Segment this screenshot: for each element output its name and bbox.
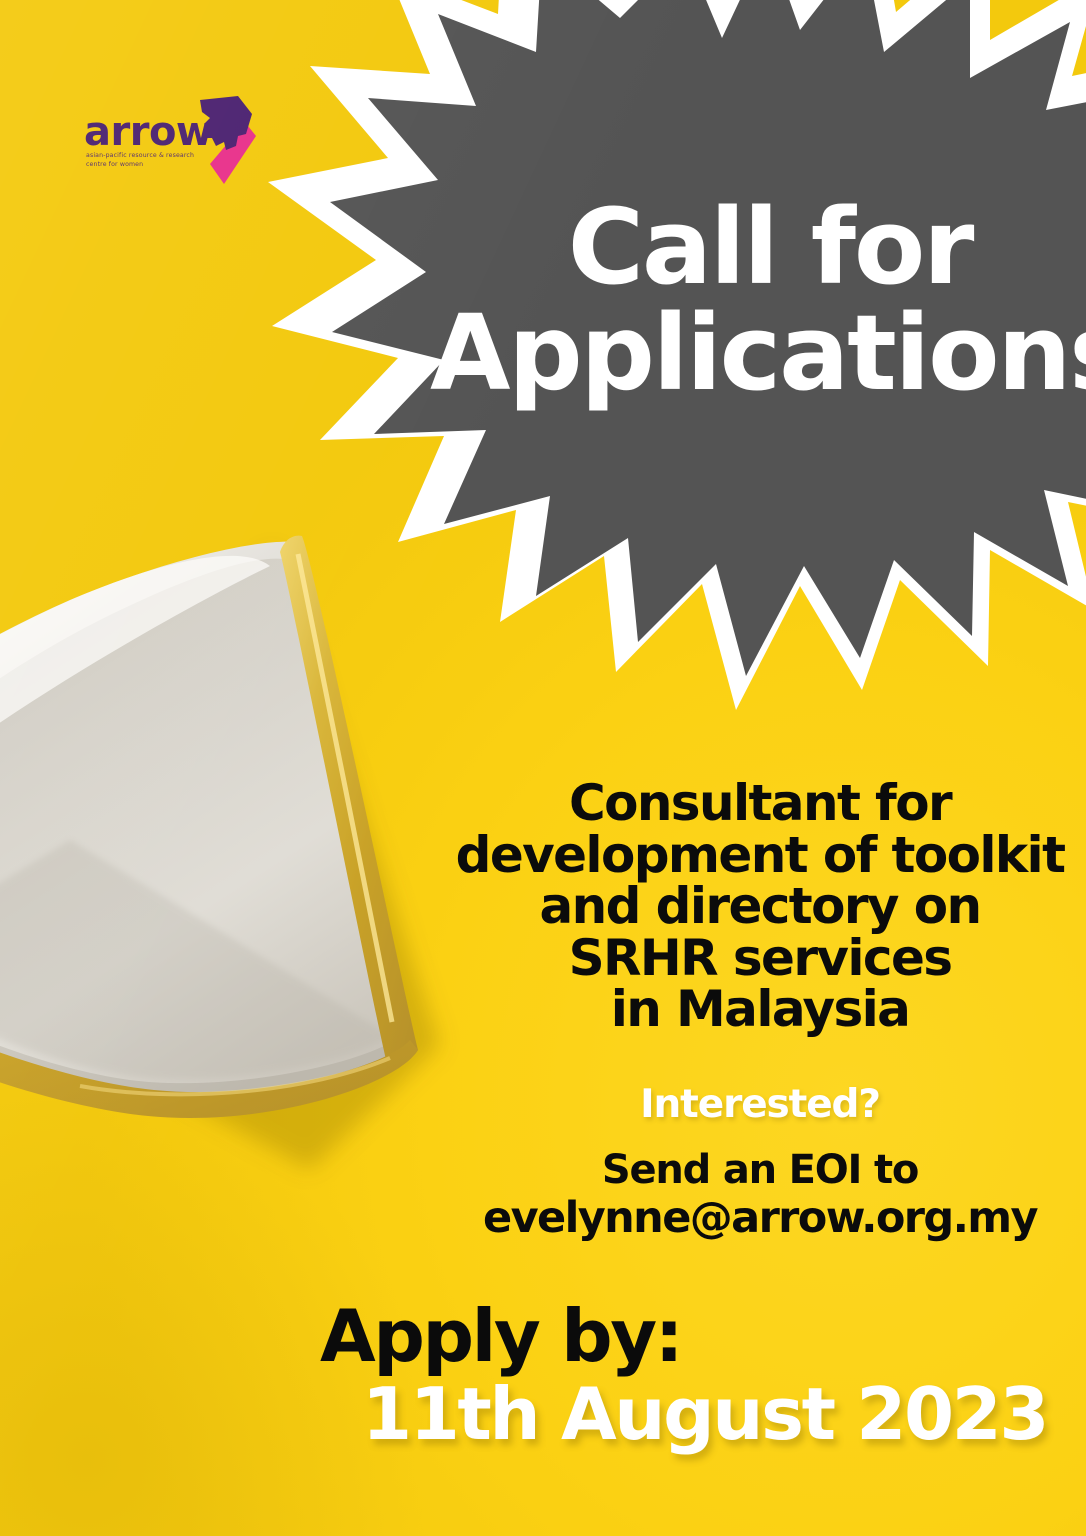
role-line-4: SRHR services	[455, 933, 1065, 985]
eoi-send-line: Send an EOI to	[440, 1148, 1080, 1194]
headline-line-1: Call for	[430, 198, 1086, 298]
eoi-instruction: Send an EOI to evelynne@arrow.org.my	[440, 1148, 1080, 1243]
page-title: Call for Applications	[430, 198, 1086, 404]
role-line-1: Consultant for	[455, 778, 1065, 830]
arrow-logo-mark-icon	[194, 92, 258, 188]
arrow-logo[interactable]: arrow asian-pacific resource & research …	[84, 100, 254, 186]
role-line-3: and directory on	[455, 881, 1065, 933]
logo-tagline: asian-pacific resource & research centre…	[86, 152, 208, 170]
role-line-5: in Malaysia	[455, 984, 1065, 1036]
role-description: Consultant for development of toolkit an…	[455, 778, 1065, 1036]
interested-prompt: Interested?	[455, 1082, 1065, 1127]
deadline-label: Apply by:	[320, 1300, 1060, 1372]
eoi-email-address[interactable]: evelynne@arrow.org.my	[440, 1194, 1080, 1243]
deadline-date: 11th August 2023	[362, 1378, 1060, 1450]
deadline-block: Apply by: 11th August 2023	[320, 1300, 1060, 1450]
headline-line-2: Applications	[430, 304, 1086, 404]
poster-canvas: arrow asian-pacific resource & research …	[0, 0, 1086, 1536]
role-line-2: development of toolkit	[455, 830, 1065, 882]
